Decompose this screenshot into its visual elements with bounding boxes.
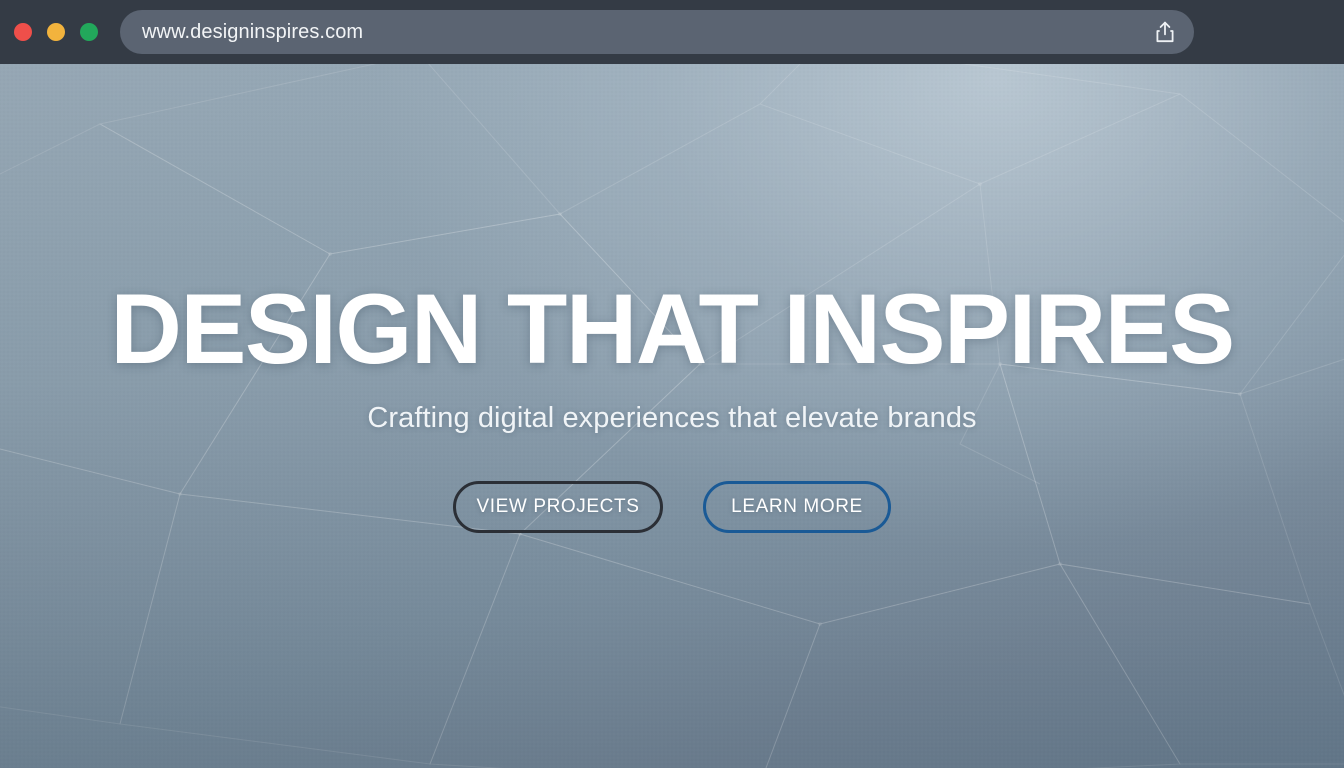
- close-window-button[interactable]: [14, 23, 32, 41]
- share-icon[interactable]: [1150, 17, 1180, 47]
- window-controls: [14, 23, 98, 41]
- maximize-window-button[interactable]: [80, 23, 98, 41]
- browser-toolbar: www.designinspires.com: [0, 0, 1344, 64]
- hero-subtitle: Crafting digital experiences that elevat…: [367, 402, 976, 435]
- hero-cta-group: VIEW PROJECTS LEARN MORE: [453, 481, 891, 533]
- learn-more-button[interactable]: LEARN MORE: [703, 481, 891, 533]
- address-bar[interactable]: www.designinspires.com: [120, 10, 1194, 54]
- url-text: www.designinspires.com: [142, 21, 363, 44]
- browser-window: www.designinspires.com: [0, 0, 1344, 768]
- minimize-window-button[interactable]: [47, 23, 65, 41]
- view-projects-button[interactable]: VIEW PROJECTS: [453, 481, 663, 533]
- hero-section: DESIGN THAT INSPIRES Crafting digital ex…: [0, 64, 1344, 768]
- hero-content: DESIGN THAT INSPIRES Crafting digital ex…: [0, 64, 1344, 768]
- page-title: DESIGN THAT INSPIRES: [110, 279, 1233, 380]
